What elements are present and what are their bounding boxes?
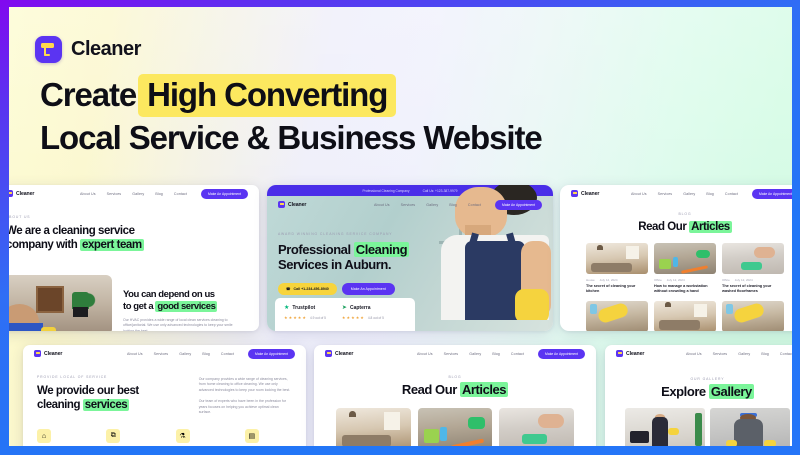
article-grid-row2: Cleaner July 12, 2024 A tidy objects to … bbox=[560, 301, 792, 332]
mini-brand-name: Cleaner bbox=[288, 202, 306, 208]
review-name: Trustpilot bbox=[292, 305, 315, 311]
mini-brand-logo: Cleaner bbox=[616, 350, 644, 357]
mini-nav-links[interactable]: About Us Services Gallery Blog Contact bbox=[127, 352, 234, 356]
nav-item-gallery[interactable]: Gallery bbox=[683, 192, 695, 196]
nav-item-about[interactable]: About Us bbox=[631, 192, 647, 196]
nav-item-blog[interactable]: Blog bbox=[492, 352, 500, 356]
about-heading-highlight: expert team bbox=[80, 239, 144, 251]
review-trustpilot: ★ Trustpilot ★★★★★ 4.9 out of 5 bbox=[284, 304, 326, 325]
headline-line-2: Local Service & Business Website bbox=[40, 118, 760, 158]
nav-item-services[interactable]: Services bbox=[107, 192, 122, 196]
article-card[interactable]: Office July 12, 2024 How to manage a wor… bbox=[654, 243, 716, 294]
blog-header: BLOG Read Our Articles bbox=[314, 375, 596, 397]
template-card-blog-wide[interactable]: Cleaner About Us Services Gallery Blog C… bbox=[314, 345, 596, 446]
mini-brand-name: Cleaner bbox=[335, 351, 353, 357]
about-heading-line1: We are a cleaning service bbox=[9, 224, 248, 238]
nav-item-services[interactable]: Services bbox=[444, 352, 459, 356]
nav-item-contact[interactable]: Contact bbox=[780, 352, 792, 356]
nav-item-about[interactable]: About Us bbox=[127, 352, 143, 356]
gallery-image[interactable] bbox=[625, 408, 705, 446]
headline-highlight: High Converting bbox=[138, 74, 396, 117]
window-icon: ⧉ bbox=[106, 429, 120, 443]
article-thumbnail bbox=[654, 243, 716, 274]
article-card[interactable]: Office July 12, 2024 The secret of clean… bbox=[722, 243, 784, 294]
side-heading-plain: to get a bbox=[123, 301, 155, 312]
side-heading-line2: to get a good services bbox=[123, 301, 241, 313]
template-preview-grid: Cleaner About Us Services Gallery Blog C… bbox=[9, 185, 792, 446]
services-body-1: Our company provides a wide range of cle… bbox=[199, 377, 292, 393]
review-score: 4.9 out of 5 bbox=[310, 316, 326, 320]
article-thumbnail bbox=[586, 243, 648, 274]
blog-header: BLOG Read Our Articles bbox=[560, 212, 792, 234]
article-card[interactable] bbox=[336, 408, 411, 446]
article-card[interactable]: Cleaner July 12, 2024 A tidy objects to … bbox=[586, 301, 648, 332]
nav-item-services[interactable]: Services bbox=[154, 352, 169, 356]
services-heading-line2: cleaning services bbox=[37, 398, 183, 412]
nav-item-blog[interactable]: Blog bbox=[449, 203, 457, 207]
mini-nav-links[interactable]: About Us Services Gallery Blog Contact bbox=[374, 203, 481, 207]
nav-item-gallery[interactable]: Gallery bbox=[426, 203, 438, 207]
nav-item-contact[interactable]: Contact bbox=[468, 203, 481, 207]
article-grid-row1: House July 12, 2024 The secret of cleani… bbox=[560, 243, 792, 294]
article-card[interactable]: House July 12, 2024 The secret of cleani… bbox=[586, 243, 648, 294]
article-meta: House July 12, 2024 bbox=[586, 278, 648, 282]
appointment-button[interactable]: Make An Appointment bbox=[342, 283, 395, 295]
star-rating: ★★★★★ 4.8 out of 5 bbox=[342, 315, 384, 320]
nav-item-contact[interactable]: Contact bbox=[174, 192, 187, 196]
eyebrow: BLOG bbox=[314, 375, 596, 379]
appointment-button[interactable]: Make An Appointment bbox=[538, 349, 585, 359]
brand-name: Cleaner bbox=[71, 38, 141, 61]
review-capterra: ➤ Capterra ★★★★★ 4.8 out of 5 bbox=[342, 304, 384, 325]
nav-item-about[interactable]: About Us bbox=[80, 192, 96, 196]
article-thumbnail bbox=[336, 408, 411, 446]
gallery-header: OUR GALLERY Explore Gallery bbox=[605, 377, 792, 399]
eyebrow: BLOG bbox=[560, 212, 792, 216]
blog-heading-highlight: Articles bbox=[460, 382, 508, 397]
paint-roller-icon bbox=[9, 190, 13, 197]
nav-item-gallery[interactable]: Gallery bbox=[179, 352, 191, 356]
nav-item-services[interactable]: Services bbox=[713, 352, 728, 356]
appointment-button[interactable]: Make An Appointment bbox=[201, 189, 248, 199]
services-heading-plain: cleaning bbox=[37, 399, 83, 411]
mini-navbar: Cleaner About Us Services Gallery Blog C… bbox=[314, 345, 596, 362]
eyebrow: PROVIDE LOCAL OF SERVICE bbox=[37, 375, 183, 379]
mini-brand-name: Cleaner bbox=[44, 351, 62, 357]
paint-roller-icon bbox=[35, 36, 62, 63]
article-card[interactable] bbox=[418, 408, 493, 446]
nav-item-contact[interactable]: Contact bbox=[221, 352, 234, 356]
side-heading-highlight: good services bbox=[155, 301, 217, 312]
nav-item-services[interactable]: Services bbox=[658, 192, 673, 196]
side-body-text: Our HVAC provides a wide range of local … bbox=[123, 318, 241, 331]
blog-heading: Read Our Articles bbox=[314, 383, 596, 397]
nav-item-blog[interactable]: Blog bbox=[761, 352, 769, 356]
article-title[interactable]: The secret of cleaning your washed floor… bbox=[722, 284, 784, 294]
services-body-2: Our team of experts who have been in the… bbox=[199, 399, 292, 415]
mini-brand-name: Cleaner bbox=[16, 191, 34, 197]
nav-item-contact[interactable]: Contact bbox=[511, 352, 524, 356]
article-card[interactable]: Lifestyle July 12, 2024 Why to bring bac… bbox=[654, 301, 716, 332]
nav-item-gallery[interactable]: Gallery bbox=[132, 192, 144, 196]
headline-line-1: CreateHigh Converting bbox=[40, 75, 760, 115]
house-icon: ⌂ bbox=[37, 429, 51, 443]
gallery-grid bbox=[605, 408, 792, 446]
mini-brand-logo: Cleaner bbox=[571, 190, 599, 197]
floor-icon: ▤ bbox=[245, 429, 259, 443]
call-button-label: Call +1-234-456-8940 bbox=[293, 287, 328, 291]
template-card-about[interactable]: Cleaner About Us Services Gallery Blog C… bbox=[9, 185, 259, 331]
about-heading-line2: company with expert team bbox=[9, 238, 248, 252]
paint-roller-icon bbox=[278, 201, 285, 208]
slide-canvas: Cleaner CreateHigh Converting Local Serv… bbox=[9, 7, 792, 446]
blog-heading-plain: Read Our bbox=[402, 382, 460, 397]
about-side-text: You can depend on us to get a good servi… bbox=[123, 289, 241, 331]
template-card-blog[interactable]: Cleaner About Us Services Gallery Blog C… bbox=[560, 185, 792, 331]
home-heading-line1: Professional Cleaning bbox=[278, 242, 438, 257]
paint-roller-icon bbox=[325, 350, 332, 357]
home-heading-plain: Professional bbox=[278, 242, 354, 257]
nav-item-blog[interactable]: Blog bbox=[155, 192, 163, 196]
template-card-home[interactable]: Professional Cleaning Company Call Us: +… bbox=[267, 185, 553, 331]
article-card[interactable]: Office July 12, 2024 How to clean out ki… bbox=[722, 301, 784, 332]
nav-item-gallery[interactable]: Gallery bbox=[469, 352, 481, 356]
article-date: July 12, 2024 bbox=[667, 278, 685, 282]
gallery-heading-highlight: Gallery bbox=[709, 384, 754, 399]
article-category: Office bbox=[654, 278, 662, 282]
article-category: Office bbox=[722, 278, 730, 282]
review-name: Capterra bbox=[350, 305, 371, 311]
article-date: July 12, 2024 bbox=[735, 278, 753, 282]
appointment-button[interactable]: Make An Appointment bbox=[495, 200, 542, 210]
mini-navbar: Cleaner About Us Services Gallery Blog C… bbox=[23, 345, 306, 362]
article-card[interactable] bbox=[499, 408, 574, 446]
mini-nav-links[interactable]: About Us Services Gallery Blog Contact bbox=[417, 352, 524, 356]
side-heading-line1: You can depend on us bbox=[123, 289, 241, 301]
nav-item-about[interactable]: About Us bbox=[417, 352, 433, 356]
paint-roller-icon bbox=[571, 190, 578, 197]
about-heading-plain: company with bbox=[9, 239, 80, 251]
call-button[interactable]: ☎ Call +1-234-456-8940 bbox=[278, 283, 337, 295]
nav-item-blog[interactable]: Blog bbox=[706, 192, 714, 196]
nav-item-about[interactable]: About Us bbox=[374, 203, 390, 207]
template-card-gallery[interactable]: Cleaner About Us Services Gallery Blog C… bbox=[605, 345, 792, 446]
article-thumbnail bbox=[499, 408, 574, 446]
article-meta: Office July 12, 2024 bbox=[654, 278, 716, 282]
mini-brand-logo: Cleaner bbox=[278, 201, 306, 208]
nav-item-services[interactable]: Services bbox=[401, 203, 416, 207]
mini-brand-name: Cleaner bbox=[626, 351, 644, 357]
appointment-button[interactable]: Make An Appointment bbox=[752, 189, 792, 199]
mini-navbar: Cleaner About Us Services Gallery Blog C… bbox=[267, 196, 553, 213]
article-thumbnail bbox=[654, 301, 716, 332]
gallery-heading-plain: Explore bbox=[661, 384, 709, 399]
blog-heading-highlight: Articles bbox=[689, 221, 732, 233]
phone-icon: ☎ bbox=[286, 287, 290, 291]
hero-buttons: ☎ Call +1-234-456-8940 Make An Appointme… bbox=[278, 283, 438, 295]
article-thumbnail bbox=[586, 301, 648, 332]
blog-heading: Read Our Articles bbox=[560, 220, 792, 234]
gallery-heading: Explore Gallery bbox=[605, 385, 792, 399]
review-badges: ★ Trustpilot ★★★★★ 4.9 out of 5 ➤ Capter… bbox=[275, 298, 415, 331]
headline-plain: Create bbox=[40, 76, 136, 113]
pest-spray-icon: ⚗ bbox=[176, 429, 190, 443]
home-heading-line2: Services in Auburn. bbox=[278, 257, 438, 272]
eyebrow: ABOUT US bbox=[9, 215, 248, 219]
home-heading-highlight: Cleaning bbox=[354, 242, 409, 257]
mini-brand-logo: Cleaner bbox=[34, 350, 62, 357]
capterra-icon: ➤ bbox=[342, 304, 347, 311]
article-meta: Office July 12, 2024 bbox=[722, 278, 784, 282]
mini-brand-logo: Cleaner bbox=[9, 190, 34, 197]
announcement-text: Professional Cleaning Company bbox=[362, 189, 409, 193]
service-item-pest[interactable]: ⚗ Pest Control bbox=[176, 429, 223, 446]
nav-item-gallery[interactable]: Gallery bbox=[738, 352, 750, 356]
mini-nav-links[interactable]: About Us Services Gallery Blog Contact bbox=[631, 192, 738, 196]
about-photo bbox=[9, 275, 112, 331]
mini-navbar: Cleaner About Us Services Gallery Blog C… bbox=[9, 185, 259, 202]
article-title[interactable]: The secret of cleaning your kitchen bbox=[586, 284, 648, 294]
paint-roller-icon bbox=[616, 350, 623, 357]
article-category: House bbox=[586, 278, 595, 282]
service-item-house[interactable]: ⌂ House Cleaning bbox=[37, 429, 84, 446]
blog-heading-plain: Read Our bbox=[638, 221, 689, 233]
service-list: ⌂ House Cleaning ⧉ Window Cleaning bbox=[23, 429, 306, 446]
hero-headline: CreateHigh Converting Local Service & Bu… bbox=[40, 75, 760, 158]
star-rating: ★★★★★ 4.9 out of 5 bbox=[284, 315, 326, 320]
article-thumbnail bbox=[722, 243, 784, 274]
template-card-services[interactable]: Cleaner About Us Services Gallery Blog C… bbox=[23, 345, 306, 446]
eyebrow: AWARD WINNING CLEANING SERVICE COMPANY bbox=[278, 232, 438, 236]
home-hero-text: AWARD WINNING CLEANING SERVICE COMPANY P… bbox=[278, 232, 438, 295]
mini-navbar: Cleaner About Us Services Gallery Blog C… bbox=[560, 185, 792, 202]
mini-navbar: Cleaner About Us Services Gallery Blog C… bbox=[605, 345, 792, 362]
paint-roller-icon bbox=[34, 350, 41, 357]
mini-nav-links[interactable]: About Us Services Gallery Blog Contact bbox=[80, 192, 187, 196]
services-heading-line1: We provide our best bbox=[37, 384, 183, 398]
mini-brand-logo: Cleaner bbox=[325, 350, 353, 357]
review-score: 4.8 out of 5 bbox=[368, 316, 384, 320]
gallery-image[interactable] bbox=[710, 408, 790, 446]
article-thumbnail bbox=[722, 301, 784, 332]
services-heading-highlight: services bbox=[83, 399, 129, 411]
nav-item-blog[interactable]: Blog bbox=[202, 352, 210, 356]
mini-nav-links[interactable]: About Us Services Gallery Blog Contact bbox=[686, 352, 792, 356]
article-grid bbox=[314, 408, 596, 446]
eyebrow: OUR GALLERY bbox=[605, 377, 792, 381]
article-date: July 12, 2024 bbox=[600, 278, 618, 282]
mini-brand-name: Cleaner bbox=[581, 191, 599, 197]
about-hero-text: ABOUT US We are a cleaning service compa… bbox=[9, 202, 259, 252]
services-intro: PROVIDE LOCAL OF SERVICE We provide our … bbox=[23, 362, 306, 415]
brand-logo[interactable]: Cleaner bbox=[35, 36, 141, 63]
article-thumbnail bbox=[418, 408, 493, 446]
trustpilot-star-icon: ★ bbox=[284, 304, 289, 311]
service-item-window[interactable]: ⧉ Window Cleaning bbox=[106, 429, 153, 446]
service-item-floor[interactable]: ▤ Floor Cleaning bbox=[245, 429, 292, 446]
article-title[interactable]: How to manage a workstation without crow… bbox=[654, 284, 716, 294]
nav-item-about[interactable]: About Us bbox=[686, 352, 702, 356]
appointment-button[interactable]: Make An Appointment bbox=[248, 349, 295, 359]
gradient-frame: Cleaner CreateHigh Converting Local Serv… bbox=[0, 0, 800, 455]
nav-item-contact[interactable]: Contact bbox=[725, 192, 738, 196]
